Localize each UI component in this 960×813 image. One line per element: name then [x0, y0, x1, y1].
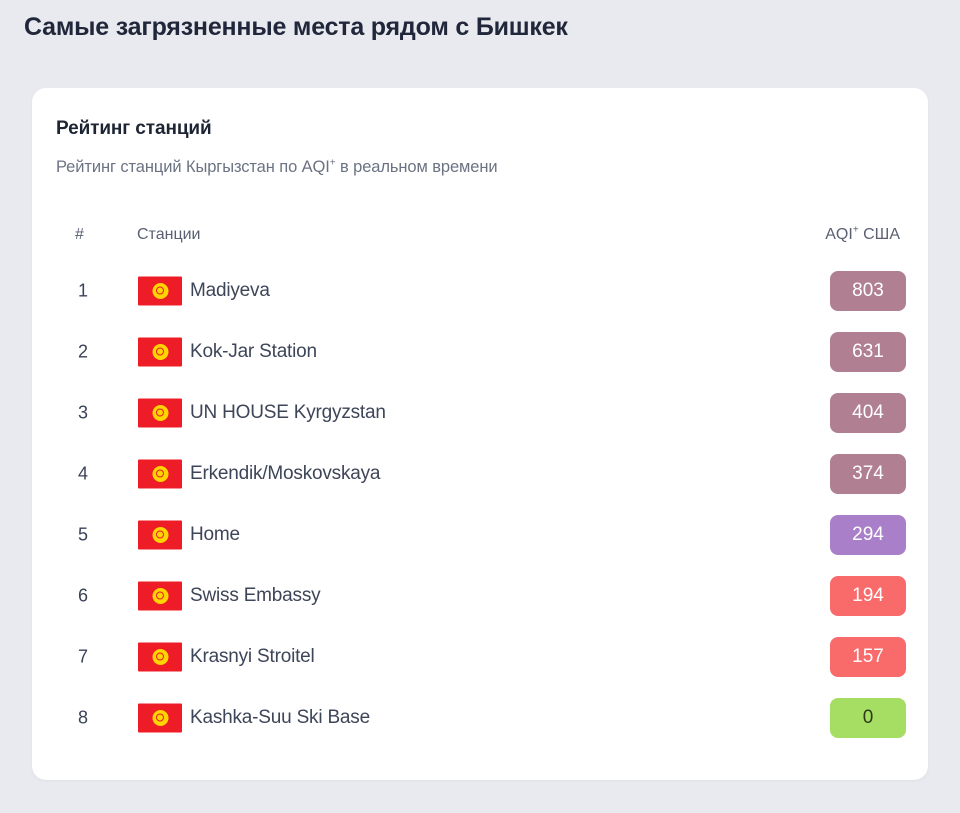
row-aqi-badge: 374 [830, 454, 906, 494]
card-title: Рейтинг станций [56, 118, 212, 140]
row-station-name[interactable]: Erkendik/Moskovskaya [190, 463, 380, 485]
table-row[interactable]: 3UN HOUSE Kyrgyzstan404 [32, 382, 928, 443]
flag-sun-icon [154, 406, 167, 419]
card-subtitle-text: Рейтинг станций Кыргызстан по AQI [56, 158, 330, 176]
column-header-rank: # [75, 226, 84, 244]
row-station-name[interactable]: Krasnyi Stroitel [190, 646, 315, 668]
kyrgyzstan-flag-icon [138, 398, 182, 427]
card-subtitle-text-tail: в реальном времени [336, 158, 498, 176]
row-aqi-badge: 157 [830, 637, 906, 677]
flag-sun-icon [154, 528, 167, 541]
kyrgyzstan-flag-icon [138, 703, 182, 732]
flag-sun-icon [154, 589, 167, 602]
column-header-aqi: AQI+ США [825, 226, 900, 244]
row-aqi-badge: 404 [830, 393, 906, 433]
table-header-row: # Станции AQI+ США [32, 214, 928, 260]
row-station-name[interactable]: Madiyeva [190, 280, 270, 302]
column-header-station: Станции [137, 226, 200, 244]
row-station-name[interactable]: Kok-Jar Station [190, 341, 317, 363]
flag-sun-icon [154, 284, 167, 297]
row-rank: 1 [72, 280, 94, 301]
kyrgyzstan-flag-icon [138, 520, 182, 549]
kyrgyzstan-flag-icon [138, 276, 182, 305]
table-row[interactable]: 6Swiss Embassy194 [32, 565, 928, 626]
row-rank: 7 [72, 646, 94, 667]
table-row[interactable]: 4Erkendik/Moskovskaya374 [32, 443, 928, 504]
row-aqi-badge: 631 [830, 332, 906, 372]
card-subtitle: Рейтинг станций Кыргызстан по AQI+ в реа… [56, 158, 498, 177]
table-row[interactable]: 8Kashka-Suu Ski Base0 [32, 687, 928, 748]
column-header-aqi-tail: США [859, 226, 900, 243]
row-rank: 4 [72, 463, 94, 484]
table-body: 1Madiyeva8032Kok-Jar Station6313UN HOUSE… [32, 260, 928, 748]
station-ranking-card: Рейтинг станций Рейтинг станций Кыргызст… [32, 88, 928, 780]
flag-sun-icon [154, 650, 167, 663]
row-aqi-badge: 294 [830, 515, 906, 555]
kyrgyzstan-flag-icon [138, 581, 182, 610]
station-ranking-table: # Станции AQI+ США 1Madiyeva8032Kok-Jar … [32, 214, 928, 748]
row-aqi-badge: 803 [830, 271, 906, 311]
page-title: Самые загрязненные места рядом с Бишкек [24, 13, 568, 42]
kyrgyzstan-flag-icon [138, 459, 182, 488]
row-aqi-badge: 194 [830, 576, 906, 616]
row-station-name[interactable]: UN HOUSE Kyrgyzstan [190, 402, 386, 424]
row-rank: 3 [72, 402, 94, 423]
row-rank: 6 [72, 585, 94, 606]
flag-sun-icon [154, 345, 167, 358]
column-header-aqi-text: AQI [825, 226, 853, 243]
table-row[interactable]: 5Home294 [32, 504, 928, 565]
table-row[interactable]: 2Kok-Jar Station631 [32, 321, 928, 382]
table-row[interactable]: 1Madiyeva803 [32, 260, 928, 321]
row-rank: 2 [72, 341, 94, 362]
flag-sun-icon [154, 711, 167, 724]
row-rank: 8 [72, 707, 94, 728]
row-station-name[interactable]: Swiss Embassy [190, 585, 320, 607]
row-aqi-badge: 0 [830, 698, 906, 738]
row-station-name[interactable]: Home [190, 524, 240, 546]
table-row[interactable]: 7Krasnyi Stroitel157 [32, 626, 928, 687]
page-root: Самые загрязненные места рядом с Бишкек … [0, 0, 960, 813]
kyrgyzstan-flag-icon [138, 642, 182, 671]
row-rank: 5 [72, 524, 94, 545]
kyrgyzstan-flag-icon [138, 337, 182, 366]
flag-sun-icon [154, 467, 167, 480]
row-station-name[interactable]: Kashka-Suu Ski Base [190, 707, 370, 729]
